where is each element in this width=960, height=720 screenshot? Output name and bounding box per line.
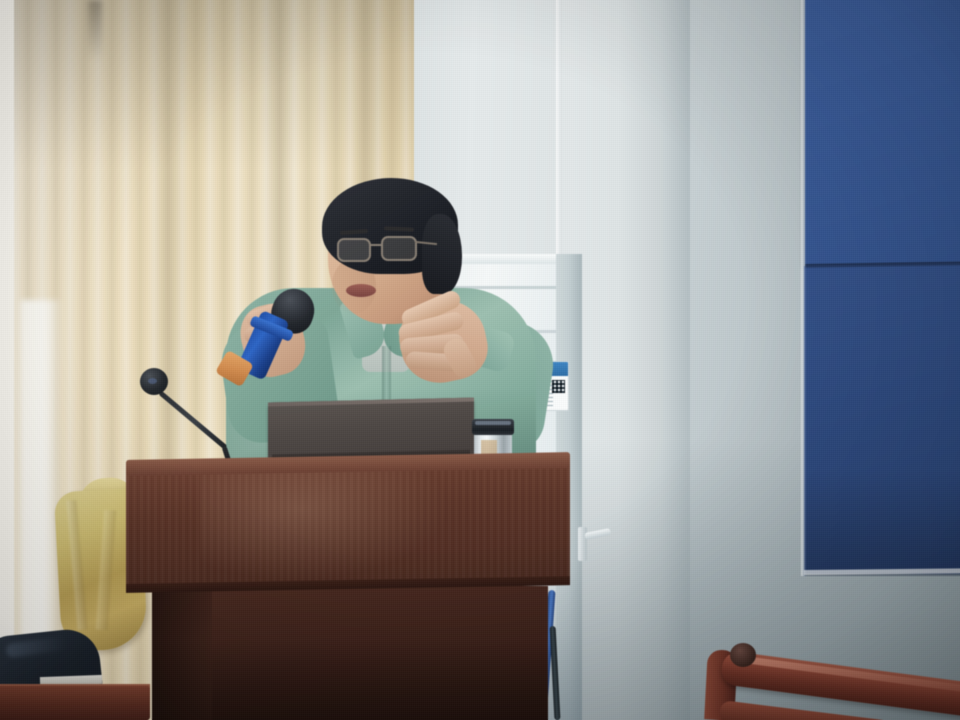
lectern-shadow	[152, 640, 548, 720]
speaker-mouth	[346, 284, 376, 297]
curtain-top-shadow	[14, 0, 414, 170]
blue-panel-left-edge	[801, 0, 806, 576]
chair-knob	[730, 643, 756, 667]
speaker-hair-side	[422, 214, 462, 294]
eyeglasses-lens-right	[381, 236, 417, 261]
gooseneck-highlight	[148, 378, 157, 384]
blue-panel-shading	[804, 470, 960, 576]
blue-acoustic-panel-upper	[805, 0, 960, 268]
lectern-sheen	[200, 468, 450, 582]
eyeglasses-bridge	[370, 244, 383, 246]
curtain-rod-shadow	[88, 0, 102, 60]
table-front-panel	[0, 686, 150, 720]
eyeglasses-lens-left	[337, 238, 371, 262]
photo-canvas: ENERGY	[0, 0, 960, 720]
thermos-lid-highlight	[475, 421, 511, 425]
gooseneck-stem	[158, 391, 227, 450]
